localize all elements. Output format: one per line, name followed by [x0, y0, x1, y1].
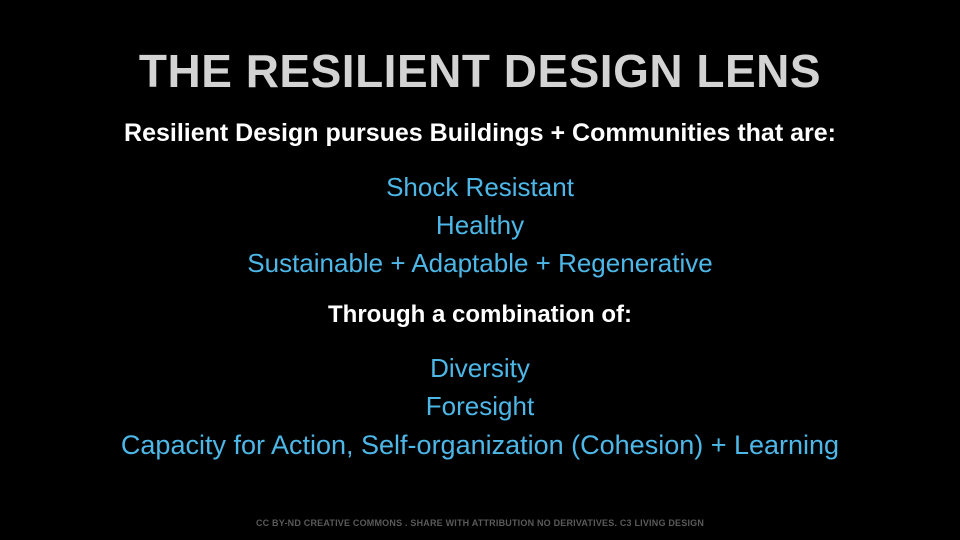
list-item: Sustainable + Adaptable + Regenerative: [247, 244, 712, 282]
qualities-list: Shock Resistant Healthy Sustainable + Ad…: [247, 168, 712, 283]
page-title: The Resilient Design Lens: [139, 48, 821, 94]
list-item: Shock Resistant: [247, 168, 712, 206]
list-item: Capacity for Action, Self-organization (…: [121, 426, 839, 466]
means-list: Diversity Foresight Capacity for Action,…: [121, 349, 839, 466]
list-item: Diversity: [121, 349, 839, 387]
sub-lead-statement: Through a combination of:: [328, 301, 632, 329]
list-item: Foresight: [121, 387, 839, 425]
list-item: Healthy: [247, 206, 712, 244]
license-footer: CC BY-ND CREATIVE COMMONS . SHARE WITH A…: [0, 518, 960, 528]
slide-root: The Resilient Design Lens Resilient Desi…: [0, 0, 960, 540]
lead-statement: Resilient Design pursues Buildings + Com…: [124, 120, 836, 148]
